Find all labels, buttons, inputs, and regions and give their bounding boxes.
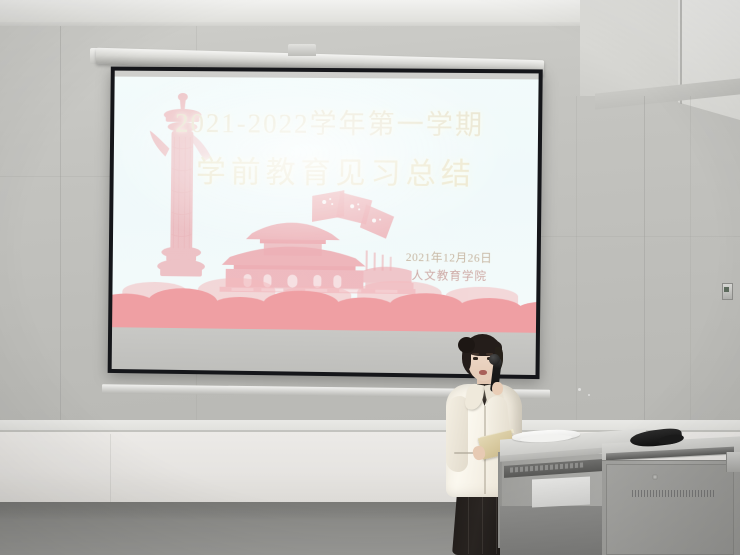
- stage-seam: [110, 434, 111, 504]
- soffit-face: [678, 0, 740, 120]
- cabinet-lock-icon: [652, 474, 658, 480]
- wall-seam: [576, 96, 577, 422]
- cabinet-ventilation-slots: [632, 490, 714, 497]
- presenter-mouth: [479, 370, 487, 375]
- wall-seam: [644, 96, 645, 422]
- dust-mote: [578, 388, 581, 391]
- presenter-eyebrow-left: [472, 353, 479, 355]
- presenter-hand-holding-microphone: [492, 382, 503, 395]
- equipment-cabinet: [602, 440, 740, 555]
- projection-screen: 2021-2022学年第一学期 学前教育见习总结 2021年12月26日 人文教…: [108, 60, 540, 380]
- podium-front-panel: [532, 476, 590, 507]
- screen-frame: 2021-2022学年第一学期 学前教育见习总结 2021年12月26日 人文教…: [108, 67, 543, 380]
- screen-surface: 2021-2022学年第一学期 学前教育见习总结 2021年12月26日 人文教…: [112, 71, 539, 375]
- lecture-hall-scene: 2021-2022学年第一学期 学前教育见习总结 2021年12月26日 人文教…: [0, 0, 740, 555]
- wall-seam: [540, 236, 740, 237]
- wall-corner-panel: [726, 452, 740, 472]
- slide-department: 人文教育学院: [412, 267, 488, 284]
- screen-center-mount: [288, 44, 316, 56]
- wall-seam: [60, 26, 61, 422]
- cabinet-door: [606, 464, 734, 555]
- dust-mote: [588, 394, 590, 396]
- projected-slide: 2021-2022学年第一学期 学前教育见习总结 2021年12月26日 人文教…: [112, 77, 539, 333]
- wall-seam: [690, 96, 691, 422]
- slide-title-line-1: 2021-2022学年第一学期: [114, 100, 539, 142]
- wall-device-indicator: [724, 287, 729, 292]
- wall-seam: [0, 176, 110, 177]
- presenter-eye-left: [473, 357, 478, 360]
- coat-pocket-left: [454, 452, 474, 454]
- ceiling-strip-secondary: [0, 0, 620, 22]
- presenter-left-sleeve: [446, 396, 468, 472]
- slide-date: 2021年12月26日: [406, 249, 493, 266]
- presenter-hair-bun: [458, 337, 475, 353]
- slide-title-line-2: 学前教育见习总结: [114, 146, 539, 194]
